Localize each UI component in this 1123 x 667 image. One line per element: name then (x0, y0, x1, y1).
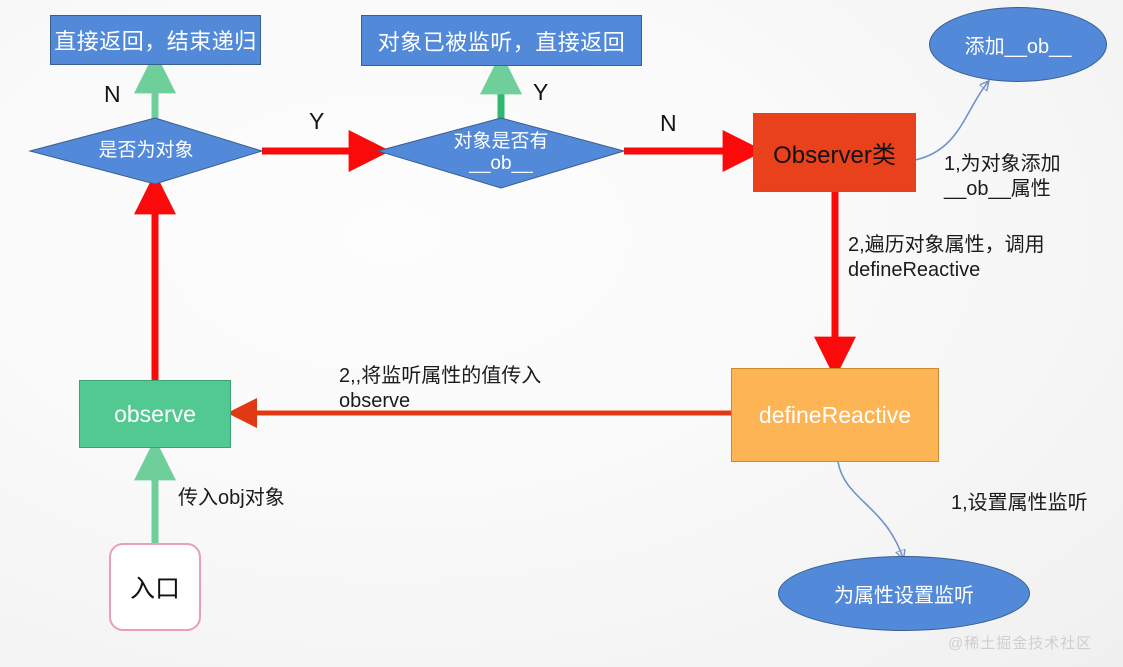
edge-label-y-top: Y (533, 79, 548, 106)
node-add-ob-ellipse[interactable]: 添加__ob__ (929, 7, 1107, 82)
node-label: defineReactive (759, 402, 911, 429)
node-label: 直接返回，结束递归 (54, 24, 257, 56)
node-label-line2: __ob__ (469, 153, 532, 175)
node-has-ob[interactable]: 对象是否有 __ob__ (378, 118, 624, 188)
node-label-line1: 对象是否有 (453, 131, 548, 153)
node-label: Observer类 (773, 135, 896, 170)
node-return-end-recursion[interactable]: 直接返回，结束递归 (50, 15, 261, 65)
edge-label-n-left: N (104, 81, 121, 108)
annotation-add-ob-attr: 1,为对象添加 __ob__属性 (944, 152, 1119, 202)
edge-label-n-right: N (660, 110, 677, 137)
edge-label-y-middle: Y (309, 108, 324, 135)
node-observe[interactable]: observe (79, 380, 231, 448)
node-label: 入口 (130, 569, 180, 605)
diagram-canvas: 直接返回，结束递归 对象已被监听，直接返回 是否为对象 对象是否有 __ob__… (0, 0, 1123, 667)
node-label: 对象已被监听，直接返回 (378, 25, 626, 57)
node-define-reactive[interactable]: defineReactive (731, 368, 939, 462)
edge-definereactive-to-setwatch (838, 462, 903, 558)
node-is-object[interactable]: 是否为对象 (30, 118, 262, 184)
edge-observer-to-addob (915, 82, 988, 160)
annotation-traverse-props: 2,遍历对象属性，调用 defineReactive (848, 233, 1098, 283)
node-entry[interactable]: 入口 (109, 543, 201, 631)
node-set-watch-ellipse[interactable]: 为属性设置监听 (778, 556, 1030, 631)
node-label: 为属性设置监听 (834, 579, 974, 608)
node-label-wrapper: 是否为对象 (30, 118, 262, 184)
annotation-set-prop-watch: 1,设置属性监听 (951, 491, 1123, 516)
annotation-pass-obj: 传入obj对象 (178, 486, 358, 511)
annotation-pass-value-observe: 2,,将监听属性的值传入 observe (339, 364, 589, 414)
node-observer-class[interactable]: Observer类 (753, 113, 916, 192)
node-label-wrapper: 对象是否有 __ob__ (378, 118, 624, 188)
node-label: observe (114, 401, 196, 428)
node-already-observed-return[interactable]: 对象已被监听，直接返回 (361, 15, 642, 66)
node-label: 是否为对象 (98, 140, 193, 162)
node-label: 添加__ob__ (965, 30, 1072, 59)
watermark: @稀土掘金技术社区 (948, 632, 1092, 653)
